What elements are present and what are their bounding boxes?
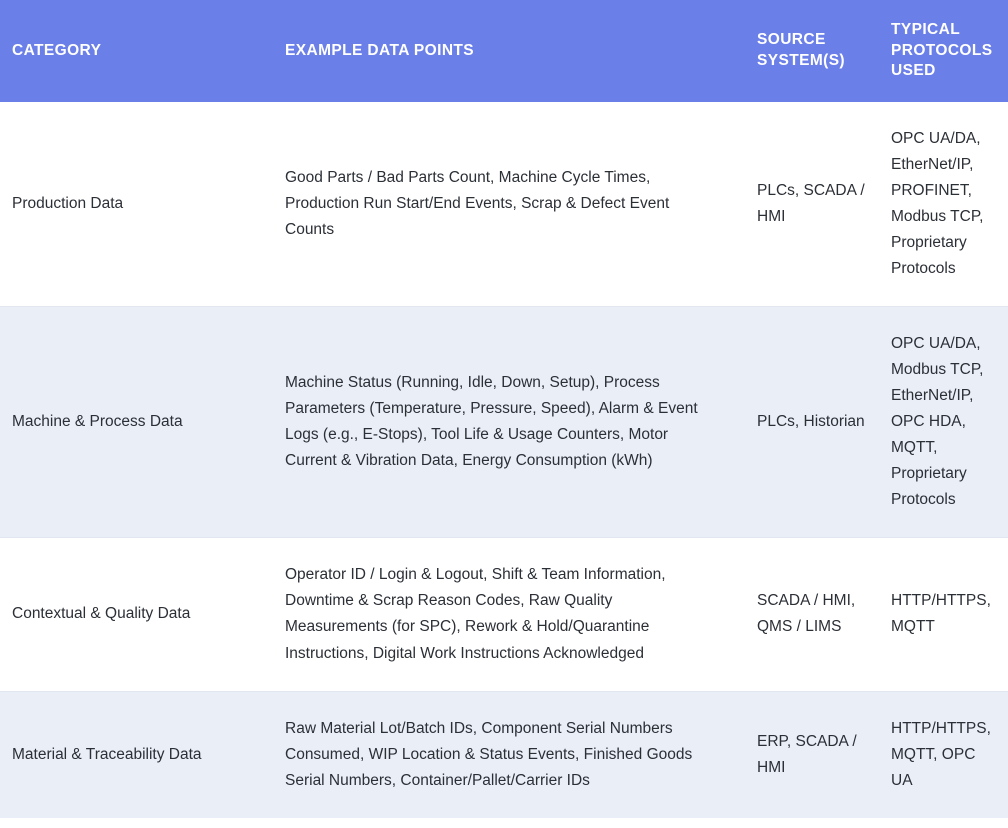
column-header-source: SOURCE SYSTEM(S) — [743, 0, 877, 102]
cell-category: Material & Traceability Data — [0, 691, 271, 818]
table-body: Production Data Good Parts / Bad Parts C… — [0, 102, 1008, 818]
cell-examples: Raw Material Lot/Batch IDs, Component Se… — [271, 691, 743, 818]
table-row: Material & Traceability Data Raw Materia… — [0, 691, 1008, 818]
column-header-examples-label: EXAMPLE DATA POINTS — [285, 41, 743, 62]
table-container: CATEGORY EXAMPLE DATA POINTS SOURCE SYST… — [0, 0, 1008, 828]
column-header-category: CATEGORY — [0, 0, 271, 102]
cell-source: SCADA / HMI, QMS / LIMS — [743, 538, 877, 691]
cell-category: Production Data — [0, 102, 271, 307]
cell-category: Contextual & Quality Data — [0, 538, 271, 691]
table-row: Production Data Good Parts / Bad Parts C… — [0, 102, 1008, 307]
cell-examples: Good Parts / Bad Parts Count, Machine Cy… — [271, 102, 743, 307]
column-header-protocols-label: TYPICAL PROTOCOLS USED — [891, 20, 1008, 83]
table-row: Contextual & Quality Data Operator ID / … — [0, 538, 1008, 691]
cell-examples: Operator ID / Login & Logout, Shift & Te… — [271, 538, 743, 691]
table-header-row: CATEGORY EXAMPLE DATA POINTS SOURCE SYST… — [0, 0, 1008, 102]
column-header-protocols: TYPICAL PROTOCOLS USED — [877, 0, 1008, 102]
column-header-category-label: CATEGORY — [12, 41, 271, 62]
cell-protocols: OPC UA/DA, EtherNet/IP, PROFINET, Modbus… — [877, 102, 1008, 307]
column-header-source-label: SOURCE SYSTEM(S) — [757, 30, 877, 72]
cell-source: PLCs, SCADA / HMI — [743, 102, 877, 307]
table-row: Machine & Process Data Machine Status (R… — [0, 307, 1008, 538]
data-categories-table: CATEGORY EXAMPLE DATA POINTS SOURCE SYST… — [0, 0, 1008, 818]
cell-protocols: OPC UA/DA, Modbus TCP, EtherNet/IP, OPC … — [877, 307, 1008, 538]
cell-protocols: HTTP/HTTPS, MQTT — [877, 538, 1008, 691]
column-header-examples: EXAMPLE DATA POINTS — [271, 0, 743, 102]
cell-source: ERP, SCADA / HMI — [743, 691, 877, 818]
cell-source: PLCs, Historian — [743, 307, 877, 538]
cell-category: Machine & Process Data — [0, 307, 271, 538]
cell-examples: Machine Status (Running, Idle, Down, Set… — [271, 307, 743, 538]
cell-protocols: HTTP/HTTPS, MQTT, OPC UA — [877, 691, 1008, 818]
table-header: CATEGORY EXAMPLE DATA POINTS SOURCE SYST… — [0, 0, 1008, 102]
